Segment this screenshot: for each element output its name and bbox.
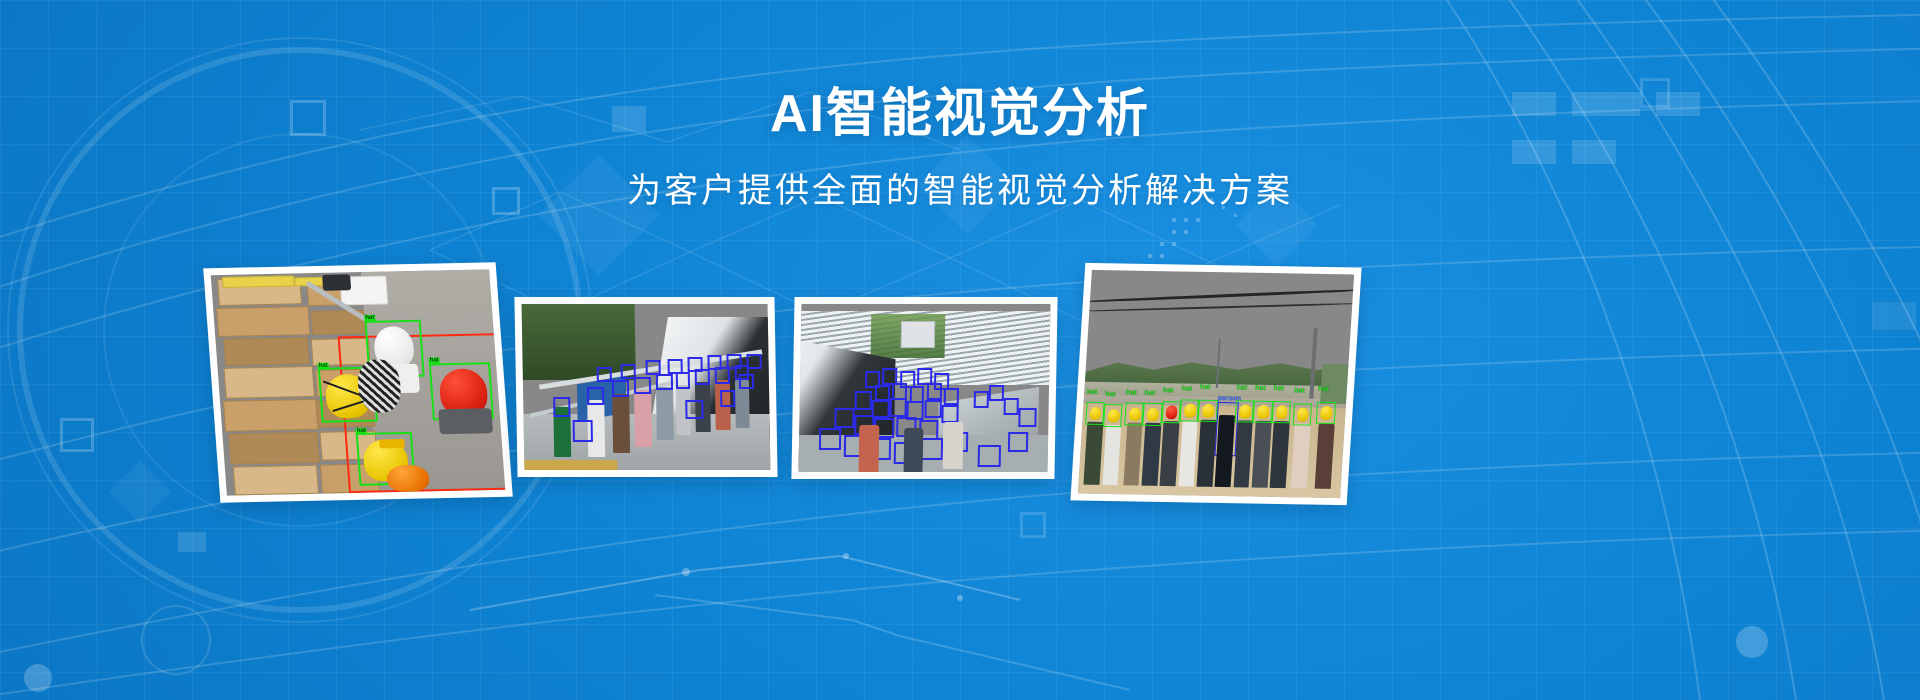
head-detection-box (634, 377, 652, 394)
head-detection-box (819, 428, 842, 450)
detection-label: hat (356, 428, 368, 435)
tree-line (522, 304, 637, 380)
pedestrian (858, 425, 879, 472)
hero-banner: AI智能视觉分析 为客户提供全面的智能视觉分析解决方案 (0, 0, 1920, 700)
head-detection-box (1018, 408, 1036, 426)
detection-label: hat (1294, 388, 1305, 396)
green-shed (1320, 363, 1349, 404)
yellow-tool (379, 439, 405, 448)
head-detection-box (927, 383, 942, 400)
gallery-card-outdoor-workers[interactable]: hat hat hat hat hat (1070, 263, 1361, 505)
carton (233, 465, 319, 495)
head-detection-box (687, 357, 702, 372)
gallery-card-bridge-crowd[interactable] (514, 297, 777, 477)
decor-filled-rect-7 (178, 532, 206, 552)
carton (223, 399, 320, 432)
scene-warehouse-hardhat: hat hat hat hat (211, 269, 506, 495)
head-detection-box (974, 391, 989, 408)
trend-dots (682, 553, 963, 601)
head-detection-box (675, 372, 690, 389)
helmet-orange (386, 465, 430, 492)
hardhat-yellow (1202, 404, 1215, 418)
head-detection-box (854, 391, 872, 409)
head-detection-box (646, 360, 661, 375)
head-detection-box (720, 390, 735, 407)
head-detection-box (573, 420, 593, 442)
head-detection-box (553, 397, 571, 417)
hardhat-yellow (1128, 407, 1141, 421)
head-detection-box (941, 405, 959, 423)
head-detection-box (739, 374, 754, 389)
carton (216, 306, 310, 337)
detection-label: hat (1236, 384, 1247, 392)
head-detection-box (707, 355, 722, 370)
dark-object (322, 274, 351, 290)
head-detection-box (872, 400, 890, 418)
head-detection-box (978, 445, 1001, 467)
detection-label: hat (1181, 386, 1192, 394)
head-detection-box (727, 354, 742, 369)
head-detection-box (924, 400, 942, 418)
head-detection-box (1004, 398, 1019, 415)
hardhat-yellow (1320, 406, 1333, 420)
head-detection-box (889, 398, 907, 416)
detection-label: hat (1105, 391, 1116, 399)
showcase-gallery: hat hat hat hat (0, 255, 1920, 525)
head-detection-box (944, 388, 959, 405)
hardhat-yellow (1107, 409, 1120, 423)
page-title: AI智能视觉分析 (0, 86, 1920, 143)
head-detection-box (611, 380, 629, 397)
hardhat-yellow (1239, 405, 1252, 419)
pedestrian (612, 394, 630, 454)
detection-label: hat (429, 358, 441, 365)
detection-label: hat (1126, 389, 1137, 397)
head-detection-box (746, 354, 761, 369)
yellow-tactile-strip (524, 460, 618, 470)
head-detection-box (989, 385, 1004, 402)
detection-label: hat (1200, 384, 1211, 392)
carton (224, 337, 309, 365)
pedestrian (943, 422, 964, 469)
head-detection-box (668, 359, 683, 374)
pedestrian (634, 390, 652, 446)
detection-label: hat (317, 362, 329, 369)
yellow-tray (222, 276, 295, 289)
scene-platform-crowd (799, 304, 1051, 472)
hardhat-yellow (1184, 404, 1197, 418)
detection-label: hat (1163, 388, 1174, 396)
station-sign (900, 321, 935, 348)
detection-label: hat (364, 315, 376, 322)
detection-label: hat (1318, 386, 1329, 394)
head-detection-box (656, 374, 674, 391)
scene-outdoor-workers-hardhat: hat hat hat hat hat (1078, 270, 1354, 498)
detection-label: hat (1273, 385, 1284, 393)
hardhat-yellow (1296, 408, 1309, 422)
carton (228, 432, 319, 465)
hero-text-block: AI智能视觉分析 为客户提供全面的智能视觉分析解决方案 (0, 86, 1920, 212)
scene-bridge-crowd (522, 304, 771, 470)
head-detection-box (921, 438, 944, 460)
power-cable (1080, 289, 1354, 304)
detection-label: hat (1087, 388, 1098, 396)
person-torso (438, 408, 493, 433)
power-cable-2 (1079, 302, 1354, 312)
head-detection-box (587, 387, 605, 405)
head-detection-box (596, 367, 611, 382)
head-detection-box (621, 364, 636, 379)
head-detection-box (1008, 432, 1028, 452)
hardhat-yellow (1257, 405, 1270, 419)
detection-label: hat (1255, 385, 1266, 393)
hardhat-red (1165, 405, 1178, 419)
carton (223, 366, 314, 399)
gallery-card-platform-crowd[interactable] (791, 297, 1057, 479)
hardhat-yellow (1276, 405, 1289, 419)
head-detection-box (834, 408, 854, 428)
page-subtitle: 为客户提供全面的智能视觉分析解决方案 (0, 171, 1920, 212)
pedestrian (903, 428, 924, 472)
hardhat-yellow (1147, 407, 1160, 421)
detection-label: hat (1144, 389, 1155, 397)
head-detection-box (686, 400, 704, 418)
trend-lines (470, 556, 1130, 690)
gallery-card-warehouse-hardhat[interactable]: hat hat hat hat (203, 262, 513, 502)
pedestrian (656, 387, 674, 440)
